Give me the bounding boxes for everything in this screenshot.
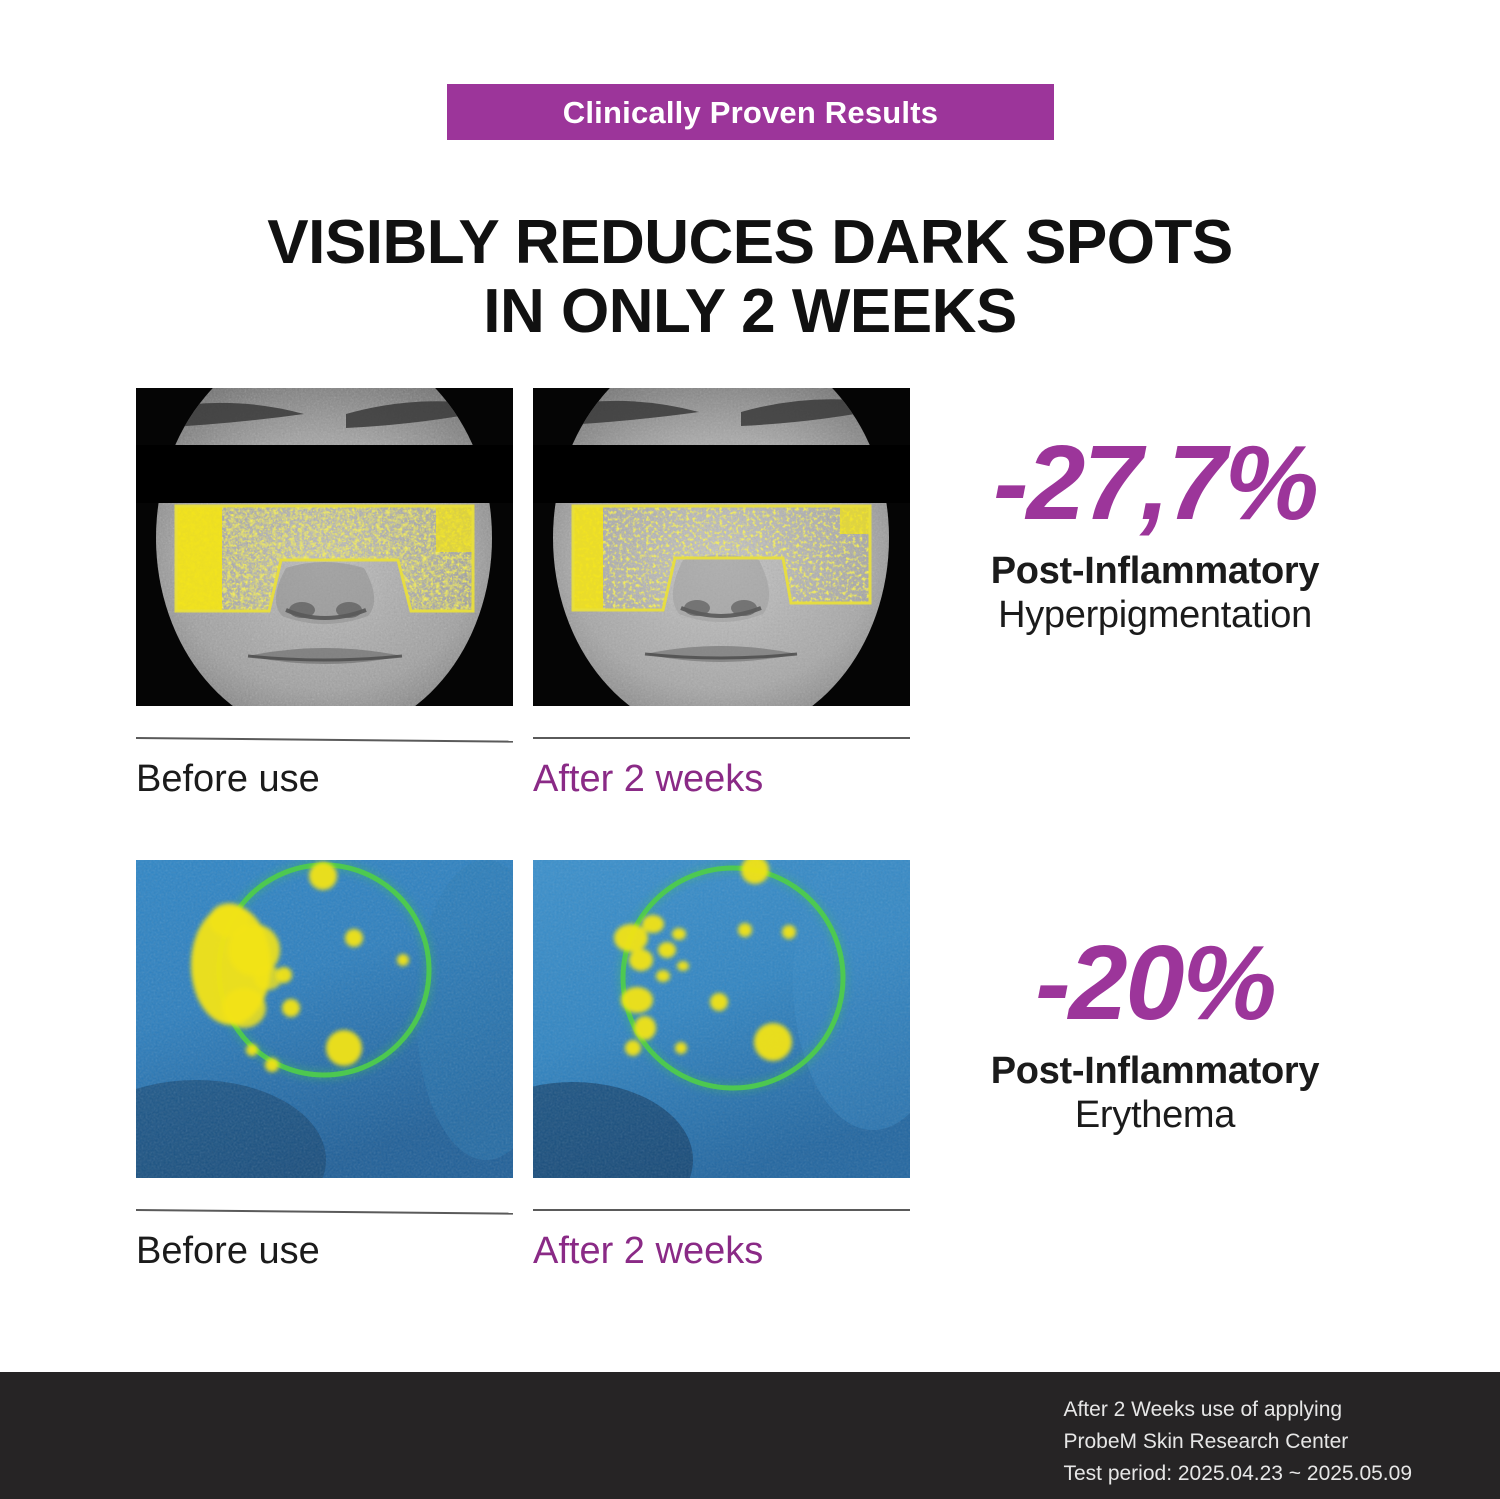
- caption-divider: [136, 1209, 513, 1215]
- badge-label: Clinically Proven Results: [563, 97, 938, 128]
- caption-after-label: After 2 weeks: [533, 1231, 910, 1273]
- caption-strip: Before use After 2 weeks: [136, 1209, 916, 1329]
- headline-line-1: VISIBLY REDUCES DARK SPOTS: [0, 208, 1500, 277]
- caption-strip: Before use After 2 weeks: [136, 737, 916, 857]
- stat-value: -20%: [930, 930, 1380, 1036]
- footer-notes: After 2 Weeks use of applying ProbeM Ski…: [1063, 1394, 1412, 1490]
- caption-before-label: Before use: [136, 1231, 513, 1273]
- stat-name: Post-Inflammatory: [930, 550, 1380, 593]
- fluorescence-before-graphic: [136, 860, 513, 1178]
- comparison-row-hyperpigmentation: Before use After 2 weeks: [136, 388, 916, 857]
- face-uv-after-image: [533, 388, 910, 706]
- fluorescence-after-image: [533, 860, 910, 1178]
- caption-before-cell: Before use: [136, 737, 513, 801]
- footer-note-3: Test period: 2025.04.23 ~ 2025.05.09: [1063, 1458, 1412, 1490]
- image-pair: [136, 388, 916, 706]
- stat-sub: Erythema: [930, 1093, 1380, 1138]
- caption-after-label: After 2 weeks: [533, 759, 910, 801]
- face-uv-before-graphic: [136, 388, 513, 706]
- footer-note-2: ProbeM Skin Research Center: [1063, 1426, 1412, 1458]
- fluorescence-before-image: [136, 860, 513, 1178]
- clinically-proven-badge: Clinically Proven Results: [447, 84, 1054, 140]
- caption-divider: [533, 737, 910, 739]
- footer-note-1: After 2 Weeks use of applying: [1063, 1394, 1412, 1426]
- caption-before-cell: Before use: [136, 1209, 513, 1273]
- stat-block-hyperpigmentation: -27,7% Post-Inflammatory Hyperpigmentati…: [930, 430, 1380, 637]
- stat-value: -27,7%: [930, 430, 1380, 536]
- page-title: VISIBLY REDUCES DARK SPOTS IN ONLY 2 WEE…: [0, 208, 1500, 347]
- stat-sub: Hyperpigmentation: [930, 593, 1380, 638]
- caption-before-label: Before use: [136, 759, 513, 801]
- caption-divider: [533, 1209, 910, 1211]
- caption-divider: [136, 737, 513, 743]
- face-uv-after-graphic: [533, 388, 910, 706]
- caption-after-cell: After 2 weeks: [533, 737, 910, 801]
- stat-name: Post-Inflammatory: [930, 1050, 1380, 1093]
- stat-block-erythema: -20% Post-Inflammatory Erythema: [930, 930, 1380, 1137]
- face-uv-before-image: [136, 388, 513, 706]
- image-pair: [136, 860, 916, 1178]
- caption-after-cell: After 2 weeks: [533, 1209, 910, 1273]
- footer-bar: After 2 Weeks use of applying ProbeM Ski…: [0, 1372, 1500, 1499]
- comparison-row-erythema: Before use After 2 weeks: [136, 860, 916, 1329]
- headline-line-2: IN ONLY 2 WEEKS: [0, 277, 1500, 346]
- fluorescence-after-graphic: [533, 860, 910, 1178]
